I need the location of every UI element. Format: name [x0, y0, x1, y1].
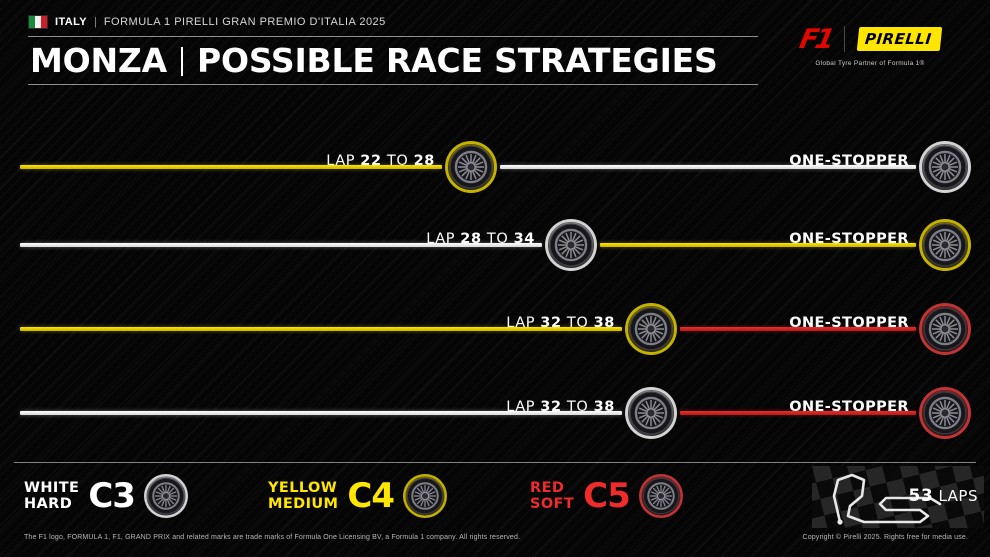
hard-tyre-icon — [545, 219, 597, 271]
lap-from: 32 — [540, 315, 561, 331]
lap-window-label: LAP 28 TO 34 — [426, 231, 535, 247]
header-rule-top — [28, 36, 758, 37]
soft-tyre-icon — [919, 303, 971, 355]
medium-tyre-icon — [445, 141, 497, 193]
soft-tyre-icon — [639, 474, 683, 518]
final-tyre — [919, 141, 971, 193]
pirelli-logo-icon: PIRELLI — [857, 27, 942, 51]
medium-tyre-icon — [625, 303, 677, 355]
lap-window-label: LAP 32 TO 38 — [506, 315, 615, 331]
pit-stop-tyre — [625, 303, 677, 355]
lap-from: 28 — [460, 231, 481, 247]
strategy-row: LAP 32 TO 38 ONE-STOPPER — [0, 373, 990, 453]
strategy-row: LAP 28 TO 34 ONE-STOPPER — [0, 205, 990, 285]
legend-compound-code: C3 — [88, 479, 135, 513]
legend-compound-word: HARD — [24, 496, 79, 512]
lap-word: LAP — [506, 315, 535, 331]
lap-from: 22 — [360, 153, 381, 169]
page-title-right: POSSIBLE RACE STRATEGIES — [197, 41, 718, 81]
legend-compound-word: MEDIUM — [268, 496, 338, 512]
infographic-root: ITALY | FORMULA 1 PIRELLI GRAN PREMIO D'… — [0, 0, 990, 557]
legend-colour-word: YELLOW — [268, 480, 338, 496]
event-separator: | — [94, 16, 97, 28]
strategy-row: LAP 22 TO 28 ONE-STOPPER — [0, 127, 990, 207]
stopper-label: ONE-STOPPER — [789, 231, 909, 247]
lap-to: 28 — [414, 153, 435, 169]
lap-count: 53 LAPS — [909, 486, 978, 506]
legend-colour-word: RED — [530, 480, 574, 496]
lap-window-label: LAP 22 TO 28 — [326, 153, 435, 169]
hard-tyre-icon — [919, 141, 971, 193]
title-divider — [181, 47, 183, 76]
final-tyre — [919, 219, 971, 271]
legend-item: YELLOW MEDIUM C4 — [268, 474, 447, 518]
footer-copyright: Copyright © Pirelli 2025. Rights free fo… — [803, 534, 968, 541]
page-title: MONZA POSSIBLE RACE STRATEGIES — [30, 41, 718, 81]
logo-divider — [844, 26, 845, 52]
header: ITALY | FORMULA 1 PIRELLI GRAN PREMIO D'… — [0, 0, 990, 88]
medium-tyre-icon — [919, 219, 971, 271]
legend-name: WHITE HARD — [24, 480, 79, 512]
stopper-label: ONE-STOPPER — [789, 315, 909, 331]
lap-from: 32 — [540, 399, 561, 415]
soft-tyre-icon — [919, 387, 971, 439]
f1-logo-icon: F1 — [796, 24, 834, 55]
lap-count-word: LAPS — [938, 487, 978, 505]
legend-compound-word: SOFT — [530, 496, 574, 512]
legend-compound-code: C4 — [347, 479, 394, 513]
lap-count-number: 53 — [909, 486, 934, 506]
lap-to-word: TO — [487, 231, 508, 247]
legend-tyre-wrap — [639, 474, 683, 518]
legend-item: WHITE HARD C3 — [24, 474, 188, 518]
lap-to-word: TO — [387, 153, 408, 169]
final-tyre — [919, 303, 971, 355]
pit-stop-tyre — [545, 219, 597, 271]
strategy-list: LAP 22 TO 28 ONE-STOPPER — [0, 92, 990, 447]
lap-to-word: TO — [567, 399, 588, 415]
legend-compound-code: C5 — [583, 479, 630, 513]
logo-row: F1 PIRELLI — [800, 22, 941, 56]
pit-stop-tyre — [625, 387, 677, 439]
stopper-label: ONE-STOPPER — [789, 153, 909, 169]
final-tyre — [919, 387, 971, 439]
footer: The F1 logo, FORMULA 1, F1, GRAND PRIX a… — [0, 532, 990, 557]
lap-window-label: LAP 32 TO 38 — [506, 399, 615, 415]
pit-stop-tyre — [445, 141, 497, 193]
header-rule-bottom — [28, 84, 758, 85]
event-line: ITALY | FORMULA 1 PIRELLI GRAN PREMIO D'… — [28, 15, 386, 29]
page-title-left: MONZA — [30, 41, 167, 81]
lap-word: LAP — [506, 399, 535, 415]
legend-name: YELLOW MEDIUM — [268, 480, 338, 512]
lap-to: 38 — [594, 315, 615, 331]
legend-name: RED SOFT — [530, 480, 574, 512]
hard-tyre-icon — [144, 474, 188, 518]
lap-to-word: TO — [567, 315, 588, 331]
lap-word: LAP — [326, 153, 355, 169]
legend-item: RED SOFT C5 — [530, 474, 683, 518]
italy-flag-icon — [28, 15, 48, 29]
event-country: ITALY — [55, 16, 87, 28]
partner-line: Global Tyre Partner of Formula 1® — [815, 60, 924, 67]
lap-to: 34 — [514, 231, 535, 247]
hard-tyre-icon — [625, 387, 677, 439]
legend-tyre-wrap — [403, 474, 447, 518]
footer-trademark: The F1 logo, FORMULA 1, F1, GRAND PRIX a… — [24, 534, 520, 541]
logo-group: F1 PIRELLI Global Tyre Partner of Formul… — [770, 22, 970, 80]
lap-word: LAP — [426, 231, 455, 247]
legend-tyre-wrap — [144, 474, 188, 518]
lap-to: 38 — [594, 399, 615, 415]
legend-rule — [14, 462, 976, 463]
circuit-info: 53 LAPS — [812, 466, 984, 528]
legend-colour-word: WHITE — [24, 480, 79, 496]
event-name: FORMULA 1 PIRELLI GRAN PREMIO D'ITALIA 2… — [104, 16, 386, 28]
medium-tyre-icon — [403, 474, 447, 518]
strategy-row: LAP 32 TO 38 ONE-STOPPER — [0, 289, 990, 369]
stopper-label: ONE-STOPPER — [789, 399, 909, 415]
